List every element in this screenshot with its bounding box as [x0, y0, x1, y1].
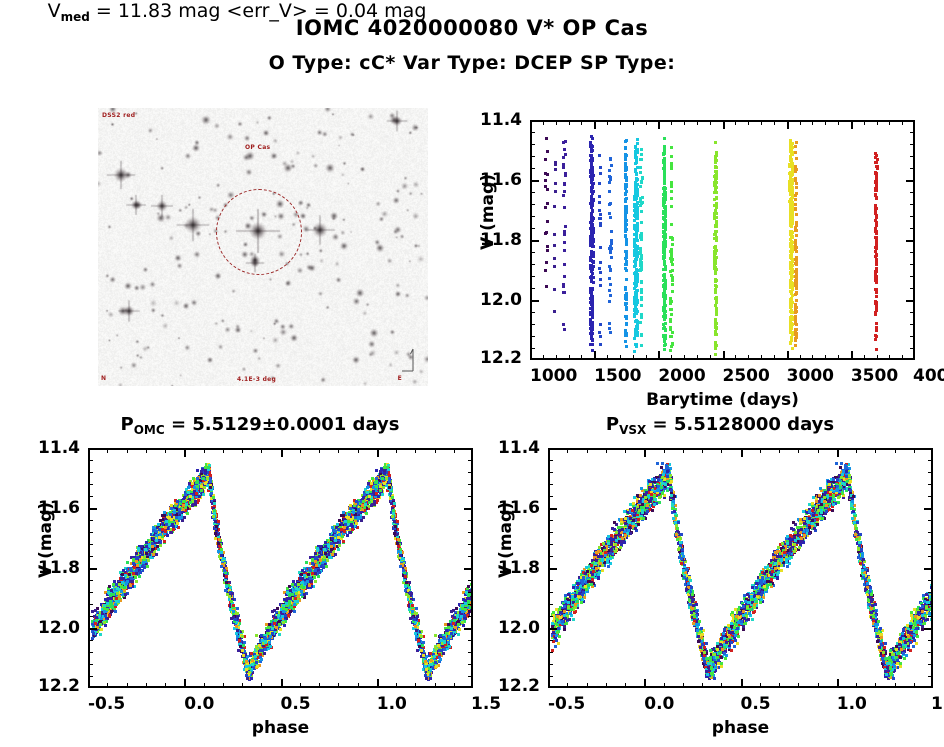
data-point — [635, 297, 638, 300]
data-point — [790, 271, 793, 274]
data-point — [663, 263, 666, 266]
data-point — [670, 164, 673, 167]
data-point — [114, 610, 117, 613]
data-point — [625, 197, 628, 200]
data-point — [794, 145, 797, 148]
data-point — [624, 147, 627, 150]
data-point — [794, 293, 797, 296]
p-omc-value: = 5.5129±0.0001 days — [165, 414, 400, 435]
data-point — [795, 246, 798, 249]
data-point — [624, 332, 627, 335]
data-point — [563, 275, 566, 278]
data-point — [591, 260, 594, 263]
data-point — [553, 233, 556, 236]
data-point — [634, 272, 637, 275]
data-point — [609, 216, 612, 219]
data-point — [563, 230, 566, 233]
data-point — [625, 345, 628, 348]
data-point — [636, 142, 639, 145]
barytime-lightcurve-plot — [530, 120, 915, 360]
data-point — [609, 283, 612, 286]
data-point — [875, 258, 878, 261]
data-point — [635, 283, 638, 286]
data-point — [624, 173, 627, 176]
data-point — [564, 153, 567, 156]
data-point — [875, 239, 878, 242]
phase-omc-title: POMC = 5.5129±0.0001 days — [40, 414, 480, 437]
data-point — [564, 225, 567, 228]
data-point — [671, 269, 674, 272]
data-point — [590, 307, 593, 310]
data-point — [590, 280, 593, 283]
data-point — [789, 232, 792, 235]
data-point — [590, 190, 593, 193]
data-point — [789, 310, 792, 313]
data-point — [546, 150, 549, 153]
phase-omc-data-area — [90, 450, 471, 686]
data-point — [875, 187, 878, 190]
data-point — [663, 318, 666, 321]
data-point — [713, 246, 716, 249]
data-point — [591, 316, 594, 319]
data-point — [546, 188, 549, 191]
data-point — [544, 179, 547, 182]
data-point — [590, 329, 593, 332]
data-point — [875, 279, 878, 282]
data-point — [663, 179, 666, 182]
data-point — [875, 182, 878, 185]
data-point — [794, 279, 797, 282]
data-point — [157, 548, 160, 551]
data-point — [592, 255, 595, 258]
data-point — [875, 326, 878, 329]
data-point — [624, 229, 627, 232]
data-point — [670, 190, 673, 193]
data-point — [663, 344, 666, 347]
data-point — [715, 308, 718, 311]
data-point — [875, 262, 878, 265]
data-point — [715, 186, 718, 189]
data-point — [563, 206, 566, 209]
data-point — [126, 561, 129, 564]
data-point — [633, 302, 636, 305]
data-point — [664, 322, 667, 325]
data-point — [639, 252, 642, 255]
phase-omc-plot — [88, 448, 473, 688]
data-point — [875, 304, 878, 307]
data-point — [639, 258, 642, 261]
data-point — [874, 270, 877, 273]
data-point — [590, 154, 593, 157]
dss-finding-chart: DSS2 red OP Cas N 4.1E-3 deg E — [98, 108, 428, 386]
data-point — [714, 330, 717, 333]
data-point — [714, 347, 717, 350]
data-point — [664, 242, 667, 245]
data-point — [610, 230, 613, 233]
data-point — [669, 257, 672, 260]
data-point — [714, 326, 717, 329]
data-point — [795, 157, 798, 160]
data-point — [715, 285, 718, 288]
data-point — [874, 246, 877, 249]
data-point — [795, 256, 798, 259]
data-point — [795, 141, 798, 144]
data-point — [599, 172, 602, 175]
data-point — [625, 306, 628, 309]
data-point — [590, 220, 593, 223]
data-point — [545, 231, 548, 234]
data-point — [545, 137, 548, 140]
data-point — [134, 576, 137, 579]
data-point — [640, 304, 643, 307]
data-point — [670, 335, 673, 338]
data-point — [795, 323, 798, 326]
data-point — [625, 238, 628, 241]
data-point — [789, 318, 792, 321]
data-point — [624, 340, 627, 343]
data-point — [562, 166, 565, 169]
data-point — [608, 300, 611, 303]
data-point — [554, 168, 557, 171]
data-point — [663, 252, 666, 255]
data-point — [663, 312, 666, 315]
data-point — [625, 176, 628, 179]
data-point — [562, 323, 565, 326]
data-point — [554, 161, 557, 164]
data-point — [640, 268, 643, 271]
data-point — [639, 166, 642, 169]
data-point — [640, 344, 643, 347]
data-point — [662, 231, 665, 234]
data-point — [794, 203, 797, 206]
omc-report-page: IOMC 4020000080 V* OP Cas O Type: cC* Va… — [0, 0, 944, 747]
data-point — [789, 256, 792, 259]
data-point — [875, 329, 878, 332]
data-point — [545, 285, 548, 288]
data-point — [553, 205, 556, 208]
data-point — [624, 296, 627, 299]
data-point — [624, 234, 627, 237]
data-point — [608, 289, 611, 292]
data-point — [670, 308, 673, 311]
data-point — [608, 327, 611, 330]
data-point — [663, 173, 666, 176]
data-point — [640, 265, 643, 268]
data-point — [874, 313, 877, 316]
data-point — [640, 288, 643, 291]
data-point — [598, 154, 601, 157]
data-point — [608, 190, 611, 193]
data-point — [633, 287, 636, 290]
data-point — [590, 337, 593, 340]
data-point — [670, 223, 673, 226]
data-point — [714, 353, 717, 356]
data-point — [624, 140, 627, 143]
data-point — [624, 214, 627, 217]
data-point — [663, 300, 666, 303]
data-point — [591, 209, 594, 212]
data-point — [590, 250, 593, 253]
data-point — [662, 152, 665, 155]
data-point — [874, 152, 877, 155]
data-point — [545, 261, 548, 264]
data-point — [599, 271, 602, 274]
data-point — [640, 313, 643, 316]
data-point — [790, 240, 793, 243]
data-point — [563, 183, 566, 186]
data-point — [789, 186, 792, 189]
data-point — [563, 190, 566, 193]
data-point — [874, 212, 877, 215]
data-point — [624, 184, 627, 187]
chart-survey-label: DSS2 red — [102, 112, 135, 119]
data-point — [669, 349, 672, 352]
data-point — [636, 138, 639, 141]
data-point — [714, 279, 717, 282]
data-point — [640, 281, 643, 284]
data-point — [625, 219, 628, 222]
data-point — [625, 322, 628, 325]
data-point — [714, 304, 717, 307]
data-point — [671, 331, 674, 334]
data-point — [589, 297, 592, 300]
data-point — [546, 249, 549, 252]
data-point — [599, 217, 602, 220]
data-point — [108, 614, 111, 617]
data-point — [634, 343, 637, 346]
data-point — [562, 291, 565, 294]
data-point — [640, 153, 643, 156]
data-point — [670, 300, 673, 303]
data-point — [715, 206, 718, 209]
data-point — [287, 614, 290, 617]
data-point — [633, 233, 636, 236]
data-point — [278, 633, 281, 636]
data-point — [664, 297, 667, 300]
data-point — [636, 327, 639, 330]
data-point — [599, 343, 602, 346]
data-point — [590, 325, 593, 328]
data-point — [662, 327, 665, 330]
data-point — [112, 583, 115, 586]
data-point — [670, 197, 673, 200]
data-point — [664, 210, 667, 213]
data-point — [563, 148, 566, 151]
data-point — [625, 278, 628, 281]
data-point — [610, 256, 613, 259]
data-point — [713, 257, 716, 260]
data-point — [563, 249, 566, 252]
data-point — [663, 335, 666, 338]
data-point — [625, 315, 628, 318]
data-point — [788, 183, 791, 186]
data-point — [795, 332, 798, 335]
data-point — [633, 254, 636, 257]
data-point — [795, 328, 798, 331]
data-point — [795, 192, 798, 195]
data-point — [544, 269, 547, 272]
data-point — [334, 553, 337, 556]
data-point — [598, 267, 601, 270]
data-point — [553, 310, 556, 313]
data-point — [553, 244, 556, 247]
data-point — [590, 150, 593, 153]
data-point — [590, 293, 593, 296]
data-point — [663, 201, 666, 204]
data-point — [624, 250, 627, 253]
data-point — [544, 158, 547, 161]
data-point — [592, 199, 595, 202]
data-point — [795, 168, 798, 171]
p-omc-subscript: OMC — [134, 423, 165, 437]
data-point — [715, 159, 718, 162]
data-point — [636, 214, 639, 217]
data-point — [590, 230, 593, 233]
data-point — [663, 289, 666, 292]
data-point — [609, 202, 612, 205]
data-point — [795, 224, 798, 227]
data-point — [714, 170, 717, 173]
data-point — [608, 277, 611, 280]
data-point — [663, 294, 666, 297]
data-point — [790, 236, 793, 239]
data-point — [562, 283, 565, 286]
data-point — [633, 350, 636, 353]
orientation-arrow-icon — [400, 346, 418, 372]
data-point — [636, 188, 639, 191]
data-point — [714, 231, 717, 234]
lightcurve-data-area — [532, 122, 913, 358]
data-point — [599, 213, 602, 216]
data-point — [794, 151, 797, 154]
data-point — [669, 326, 672, 329]
data-point — [640, 291, 643, 294]
data-point — [791, 218, 794, 221]
data-point — [589, 343, 592, 346]
data-point — [608, 175, 611, 178]
data-point — [589, 267, 592, 270]
data-point — [714, 141, 717, 144]
data-point — [598, 195, 601, 198]
data-point — [875, 348, 878, 351]
target-circle-marker — [216, 189, 302, 275]
data-point — [599, 278, 602, 281]
data-point — [714, 155, 717, 158]
data-point — [633, 314, 636, 317]
data-point — [562, 194, 565, 197]
data-point — [563, 263, 566, 266]
data-point — [794, 239, 797, 242]
data-point — [639, 185, 642, 188]
data-point — [609, 178, 612, 181]
data-point — [714, 289, 717, 292]
data-point — [789, 331, 792, 334]
data-point — [609, 158, 612, 161]
data-point — [795, 182, 798, 185]
data-point — [599, 335, 602, 338]
data-point — [624, 286, 627, 289]
data-point — [166, 534, 169, 537]
chart-object-label: OP Cas — [245, 144, 270, 151]
data-point — [457, 633, 460, 636]
object-types-line: O Type: cC* Var Type: DCEP SP Type: — [0, 52, 944, 74]
data-point — [624, 257, 627, 260]
data-point — [624, 153, 627, 156]
data-point — [670, 205, 673, 208]
data-point — [791, 193, 794, 196]
data-point — [874, 250, 877, 253]
data-point — [874, 334, 877, 337]
data-point — [625, 168, 628, 171]
data-point — [670, 181, 673, 184]
data-point — [640, 148, 643, 151]
data-point — [591, 170, 594, 173]
data-point — [639, 321, 642, 324]
data-point — [564, 140, 567, 143]
data-point — [794, 316, 797, 319]
data-point — [598, 201, 601, 204]
data-point — [663, 339, 666, 342]
data-point — [715, 333, 718, 336]
p-omc-prefix: P — [121, 414, 134, 435]
data-point — [715, 296, 718, 299]
data-point — [599, 284, 602, 287]
data-point — [591, 145, 594, 148]
data-point — [640, 334, 643, 337]
data-point — [554, 190, 557, 193]
data-point — [663, 273, 666, 276]
data-point — [590, 301, 593, 304]
data-point — [346, 534, 349, 537]
data-point — [671, 283, 674, 286]
data-point — [874, 338, 877, 341]
data-point — [670, 260, 673, 263]
data-point — [553, 257, 556, 260]
data-point — [562, 156, 565, 159]
data-point — [634, 211, 637, 214]
data-point — [790, 197, 793, 200]
data-point — [662, 257, 665, 260]
data-point — [713, 181, 716, 184]
data-point — [590, 159, 593, 162]
data-point — [99, 633, 102, 636]
data-point — [599, 246, 602, 249]
data-point — [610, 164, 613, 167]
data-point — [598, 182, 601, 185]
chart-east-label: E — [398, 375, 402, 382]
data-point — [713, 175, 716, 178]
data-point — [634, 261, 637, 264]
data-point — [664, 268, 667, 271]
data-point — [875, 197, 878, 200]
data-point — [625, 269, 628, 272]
data-point — [795, 284, 798, 287]
data-point — [624, 302, 627, 305]
data-point — [664, 236, 667, 239]
data-point — [794, 270, 797, 273]
data-point — [794, 242, 797, 245]
data-point — [788, 165, 791, 168]
data-point — [608, 212, 611, 215]
data-point — [670, 313, 673, 316]
data-point — [591, 175, 594, 178]
data-point — [640, 180, 643, 183]
data-point — [789, 266, 792, 269]
data-point — [636, 239, 639, 242]
data-point — [664, 214, 667, 217]
data-point — [715, 224, 718, 227]
data-point — [875, 322, 878, 325]
